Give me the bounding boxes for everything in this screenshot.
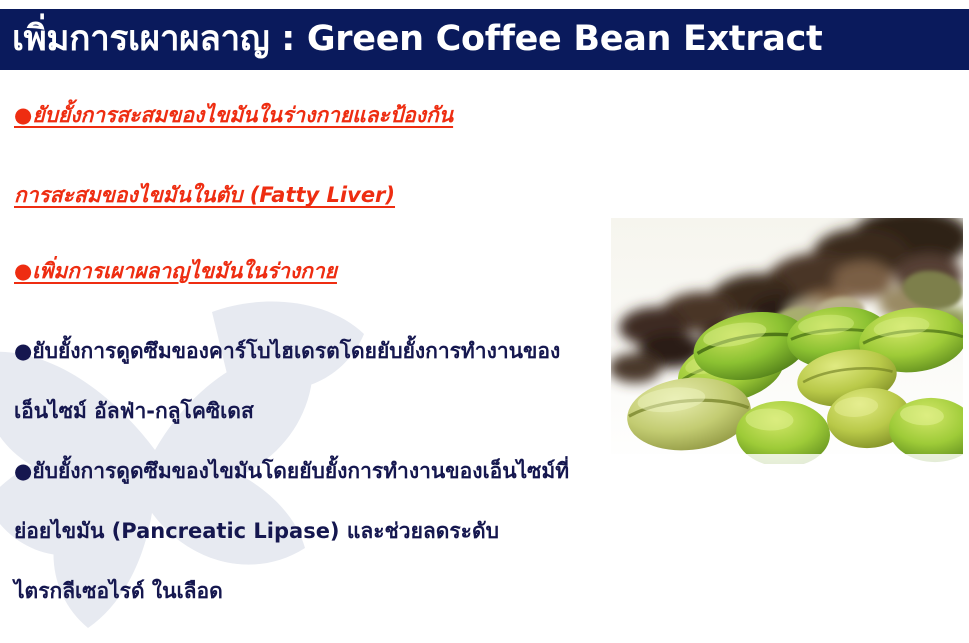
bullet-line-7: ย่อยไขมัน (Pancreatic Lipase) และช่วยลดร… — [14, 520, 634, 542]
slide-title-banner: เพิ่มการเผาผลาญ : Green Coffee Bean Extr… — [0, 9, 969, 70]
presentation-slide: เพิ่มการเผาผลาญ : Green Coffee Bean Extr… — [0, 0, 969, 643]
bullet-line-6: ●ยับยั้งการดูดซึมของไขมันโดยยับยั้งการทำ… — [14, 460, 634, 482]
bullet-line-5: เอ็นไซม์ อัลฟ่า-กลูโคซิเดส — [14, 400, 634, 422]
bullet-line-3: ●เพิ่มการเผาผลาญไขมันในร่างกาย — [14, 260, 634, 282]
green-coffee-beans-photo — [611, 218, 963, 478]
bullet-line-8: ไตรกลีเซอไรด์ ในเลือด — [14, 580, 634, 602]
page-title: เพิ่มการเผาผลาญ : Green Coffee Bean Extr… — [0, 22, 823, 57]
bullet-line-2: การสะสมของไขมันในตับ (Fatty Liver) — [14, 184, 634, 206]
slide-body-text: ●ยับยั้งการสะสมของไขมันในร่างกายและป้องก… — [14, 104, 634, 602]
bullet-line-1: ●ยับยั้งการสะสมของไขมันในร่างกายและป้องก… — [14, 104, 634, 126]
bullet-line-4: ●ยับยั้งการดูดซึมของคาร์โบไฮเดรตโดยยับยั… — [14, 340, 634, 362]
